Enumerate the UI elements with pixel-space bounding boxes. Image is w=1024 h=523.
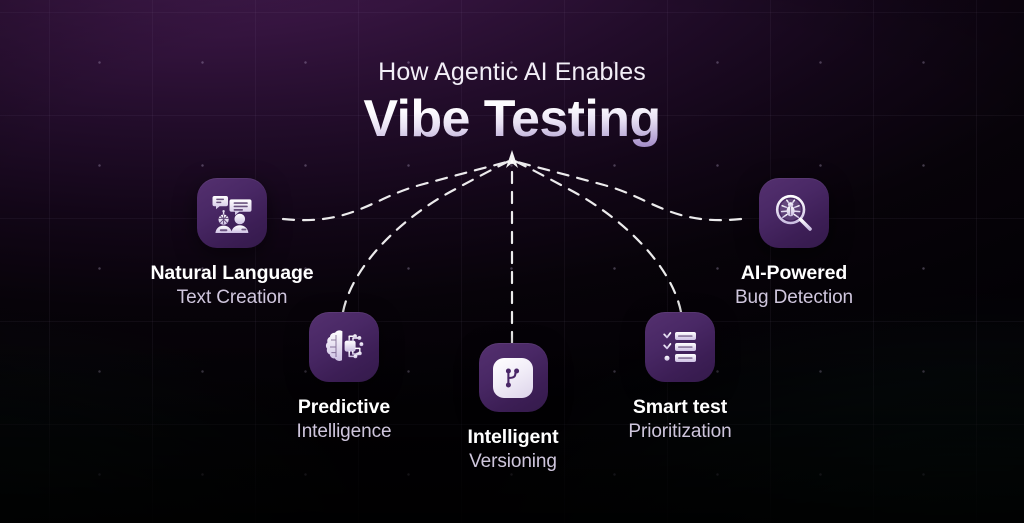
- node-caption: AI-Powered Bug Detection: [694, 261, 894, 310]
- icon-tile: [197, 178, 267, 248]
- icon-tile: [479, 343, 548, 412]
- feature-node-natural-language[interactable]: Natural Language Text Creation: [132, 178, 332, 310]
- icon-tile: [759, 178, 829, 248]
- checklist-priority-icon: [660, 327, 700, 367]
- icon-tile: [309, 312, 379, 382]
- chat-bubbles-ai-human-icon: [210, 191, 254, 235]
- icon-chip: [493, 358, 533, 398]
- brain-circuit-icon: [323, 326, 365, 368]
- node-subtitle: Bug Detection: [694, 286, 894, 310]
- node-title: Natural Language: [132, 261, 332, 286]
- header-kicker: How Agentic AI Enables: [0, 58, 1024, 87]
- header-headline: Vibe Testing: [363, 89, 660, 149]
- node-title: Smart test: [580, 395, 780, 420]
- poster-canvas: How Agentic AI Enables Vibe Testing: [0, 0, 1024, 523]
- icon-tile: [645, 312, 715, 382]
- node-subtitle: Text Creation: [132, 286, 332, 310]
- poster-header: How Agentic AI Enables Vibe Testing: [0, 58, 1024, 149]
- node-subtitle: Versioning: [413, 450, 613, 474]
- feature-node-smart-test[interactable]: Smart test Prioritization: [580, 312, 780, 444]
- git-branch-icon: [501, 366, 525, 390]
- bug-magnifier-icon: [773, 192, 815, 234]
- node-subtitle: Prioritization: [580, 420, 780, 444]
- feature-node-bug-detection[interactable]: AI-Powered Bug Detection: [694, 178, 894, 310]
- node-caption: Smart test Prioritization: [580, 395, 780, 444]
- node-caption: Natural Language Text Creation: [132, 261, 332, 310]
- node-title: AI-Powered: [694, 261, 894, 286]
